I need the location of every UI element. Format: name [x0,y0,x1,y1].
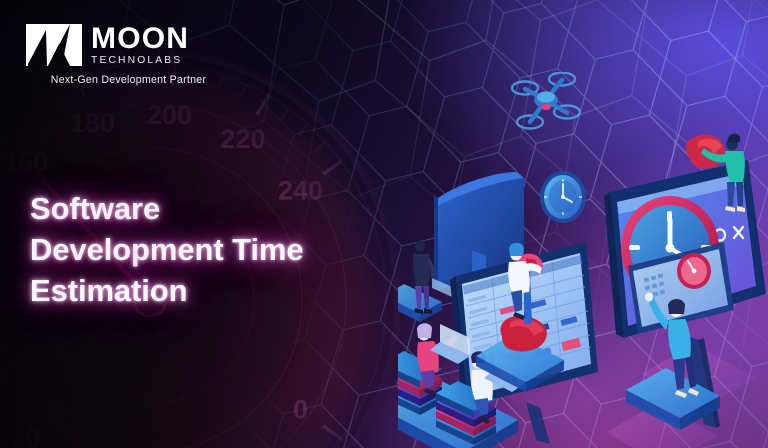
wall-clock-icon [540,171,586,223]
panel-gauge-icon [677,253,711,289]
logo[interactable]: MOON TECHNOLABS Next-Gen Development Par… [26,24,238,86]
isometric-illustration [398,72,768,448]
tablet-panel [626,242,734,430]
logo-sub-brand: TECHNOLABS [91,55,189,66]
headline-line-1: Software [30,188,430,229]
logo-tagline: Next-Gen Development Partner [26,74,231,86]
moon-m-mark-icon [26,24,82,66]
drone-icon [512,73,580,129]
logo-brand: MOON [91,25,189,53]
page-title: Software Development Time Estimation [30,188,430,312]
headline-line-3: Estimation [30,270,430,311]
banner-root: 020406080100120140160180200220240 km/h [0,0,768,448]
headline-line-2: Development Time [30,229,430,270]
